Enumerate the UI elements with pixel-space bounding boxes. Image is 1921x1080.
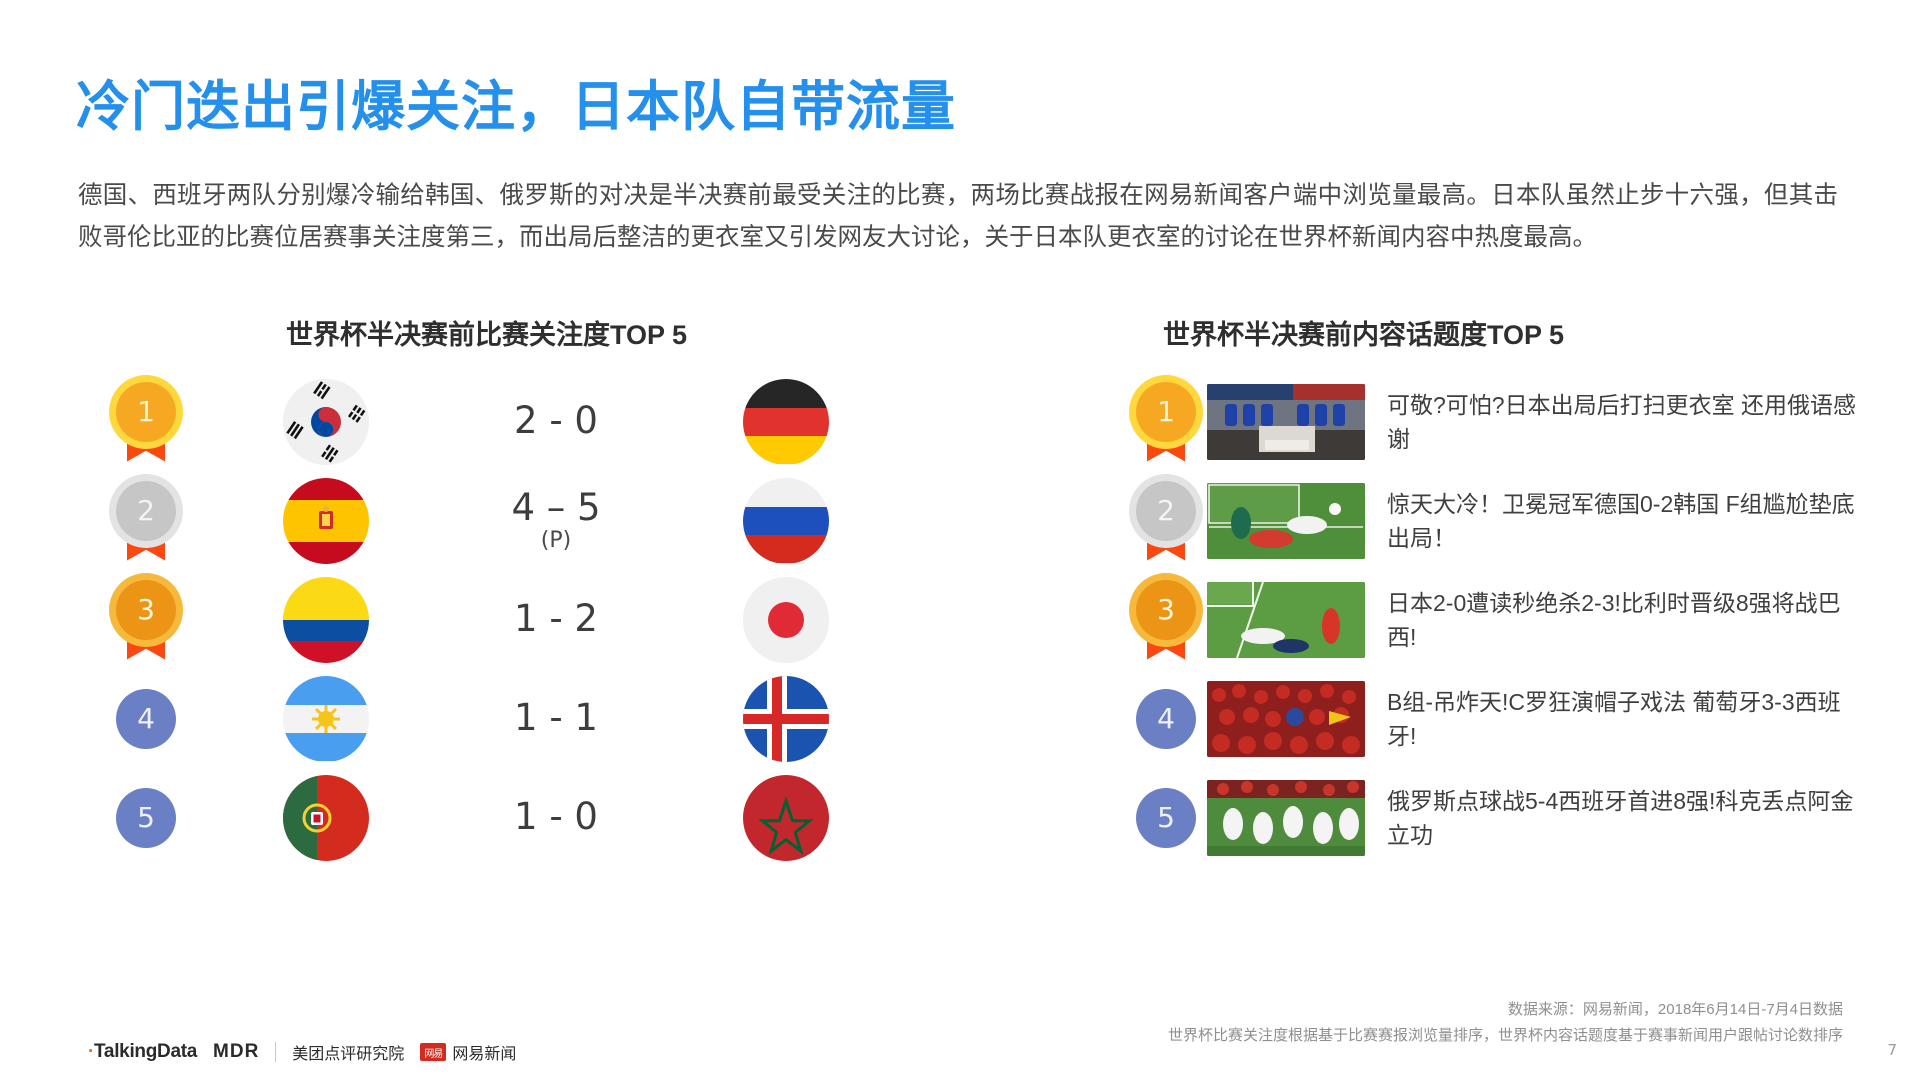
- rank-badge: 5: [116, 788, 176, 848]
- medal-gold-icon: 1: [116, 382, 176, 462]
- news-headline[interactable]: 惊天大冷！卫冕冠军德国0-2韩国 F组尴尬垫底出局！: [1387, 487, 1857, 555]
- news-headline[interactable]: 可敬?可怕?日本出局后打扫更衣室 还用俄语感谢: [1387, 388, 1857, 456]
- rank-cell: 2: [1125, 481, 1207, 561]
- news-headline[interactable]: B组-吊炸天!C罗狂演帽子戏法 葡萄牙3-3西班牙!: [1387, 685, 1857, 753]
- flag-japan-icon: [743, 577, 829, 663]
- list-item[interactable]: 3 日本2-0遭读秒绝杀2-3!比利时晋级8强将战巴西!: [1125, 570, 1865, 669]
- flag-spain-icon: [283, 478, 369, 564]
- thumbnail-lockerroom: [1207, 384, 1365, 460]
- flag-korea-icon: [283, 379, 369, 465]
- talkingdata-logo: ·TalkingData: [88, 1041, 197, 1063]
- lead-paragraph: 德国、西班牙两队分别爆冷输给韩国、俄罗斯的对决是半决赛前最受关注的比赛，两场比赛…: [78, 175, 1838, 259]
- flag-iceland-icon: [743, 676, 829, 762]
- away-flag-cell: [676, 478, 896, 564]
- away-flag-cell: [676, 379, 896, 465]
- rank-cell: 3: [1125, 580, 1207, 660]
- rank-cell: 2: [76, 481, 216, 561]
- thumbnail-crowd: [1207, 681, 1365, 757]
- medal-silver-icon: 2: [1136, 481, 1196, 561]
- home-flag-cell: [216, 775, 436, 861]
- table-row: 5 1 - 0: [76, 768, 896, 867]
- page-number: 7: [1887, 1041, 1897, 1059]
- netease-mark-icon: 网易: [420, 1043, 446, 1061]
- flag-germany-icon: [743, 379, 829, 465]
- rank-cell: 4: [1125, 689, 1207, 749]
- rank-badge: 4: [1136, 689, 1196, 749]
- table-row: 1: [76, 372, 896, 471]
- score-cell: 4 – 5 (P): [436, 489, 676, 553]
- slide-root: 冷门迭出引爆关注，日本队自带流量 德国、西班牙两队分别爆冷输给韩国、俄罗斯的对决…: [0, 0, 1921, 1080]
- table-row: 2 4 – 5 (P): [76, 471, 896, 570]
- meituan-research-logo: 美团点评研究院: [292, 1040, 404, 1064]
- rank-cell: 1: [1125, 382, 1207, 462]
- flag-portugal-icon: [283, 775, 369, 861]
- list-item[interactable]: 1 可敬?可怕?日本出局后打扫更衣室 还用俄语感谢: [1125, 372, 1865, 471]
- home-flag-cell: [216, 478, 436, 564]
- right-panel-heading: 世界杯半决赛前内容话题度TOP 5: [1163, 313, 1564, 352]
- netease-label: 网易新闻: [452, 1040, 516, 1064]
- rank-number: 3: [1136, 580, 1196, 640]
- table-row: 3 1 - 2: [76, 570, 896, 669]
- medal-bronze-icon: 3: [116, 580, 176, 660]
- rank-number: 2: [116, 481, 176, 541]
- rank-number: 1: [116, 382, 176, 442]
- source-line-1: 数据来源：网易新闻，2018年6月14日-7月4日数据: [1168, 997, 1843, 1023]
- home-flag-cell: [216, 379, 436, 465]
- score-cell: 1 - 0: [436, 798, 676, 837]
- score-cell: 2 - 0: [436, 402, 676, 441]
- thumbnail-celebration: [1207, 780, 1365, 856]
- rank-number: 2: [1136, 481, 1196, 541]
- rank-badge: 5: [1136, 788, 1196, 848]
- rank-cell: 4: [76, 689, 216, 749]
- list-item[interactable]: 2 惊天大冷！卫冕冠军德国0-2韩国 F组尴尬垫底出局！: [1125, 471, 1865, 570]
- divider: [275, 1042, 276, 1062]
- away-flag-cell: [676, 676, 896, 762]
- list-item[interactable]: 5 俄罗斯点球战5-4西班牙首进8强!科克丢点阿金立功: [1125, 768, 1865, 867]
- table-row: 4 1 - 1: [76, 669, 896, 768]
- score-value: 2 - 0: [514, 399, 598, 442]
- medal-gold-icon: 1: [1136, 382, 1196, 462]
- score-note: (P): [436, 529, 676, 552]
- score-cell: 1 - 1: [436, 699, 676, 738]
- home-flag-cell: [216, 676, 436, 762]
- flag-argentina-icon: [283, 676, 369, 762]
- left-panel-heading: 世界杯半决赛前比赛关注度TOP 5: [286, 313, 687, 352]
- score-value: 1 - 1: [514, 696, 598, 739]
- rank-badge: 4: [116, 689, 176, 749]
- score-cell: 1 - 2: [436, 600, 676, 639]
- logo-bar: ·TalkingData MDR 美团点评研究院 网易 网易新闻: [88, 1040, 516, 1064]
- source-note: 数据来源：网易新闻，2018年6月14日-7月4日数据 世界杯比赛关注度根据基于…: [1168, 997, 1843, 1049]
- score-value: 1 - 0: [514, 795, 598, 838]
- score-value: 1 - 2: [514, 597, 598, 640]
- flag-morocco-icon: [743, 775, 829, 861]
- rank-number: 3: [116, 580, 176, 640]
- netease-news-logo: 网易 网易新闻: [420, 1040, 516, 1064]
- away-flag-cell: [676, 577, 896, 663]
- rank-number: 1: [1136, 382, 1196, 442]
- rank-cell: 5: [1125, 788, 1207, 848]
- flag-colombia-icon: [283, 577, 369, 663]
- medal-bronze-icon: 3: [1136, 580, 1196, 660]
- topic-ranking-list: 1 可敬?可怕?日本出局后打扫更衣室 还用俄语感谢 2: [1125, 372, 1865, 867]
- thumbnail-goalmouth: [1207, 483, 1365, 559]
- rank-cell: 5: [76, 788, 216, 848]
- news-headline[interactable]: 俄罗斯点球战5-4西班牙首进8强!科克丢点阿金立功: [1387, 784, 1857, 852]
- flag-russia-icon: [743, 478, 829, 564]
- source-line-2: 世界杯比赛关注度根据基于比赛赛报浏览量排序，世界杯内容话题度基于赛事新闻用户跟帖…: [1168, 1023, 1843, 1049]
- thumbnail-pitch: [1207, 582, 1365, 658]
- list-item[interactable]: 4 B组-吊炸天!C罗狂演帽子戏法 葡萄牙3-3西班牙!: [1125, 669, 1865, 768]
- rank-cell: 1: [76, 382, 216, 462]
- medal-silver-icon: 2: [116, 481, 176, 561]
- mdr-logo: MDR: [213, 1041, 259, 1063]
- rank-cell: 3: [76, 580, 216, 660]
- home-flag-cell: [216, 577, 436, 663]
- score-value: 4 – 5: [511, 486, 600, 529]
- match-ranking-list: 1: [76, 372, 896, 867]
- news-headline[interactable]: 日本2-0遭读秒绝杀2-3!比利时晋级8强将战巴西!: [1387, 586, 1857, 654]
- away-flag-cell: [676, 775, 896, 861]
- page-title: 冷门迭出引爆关注，日本队自带流量: [76, 62, 956, 141]
